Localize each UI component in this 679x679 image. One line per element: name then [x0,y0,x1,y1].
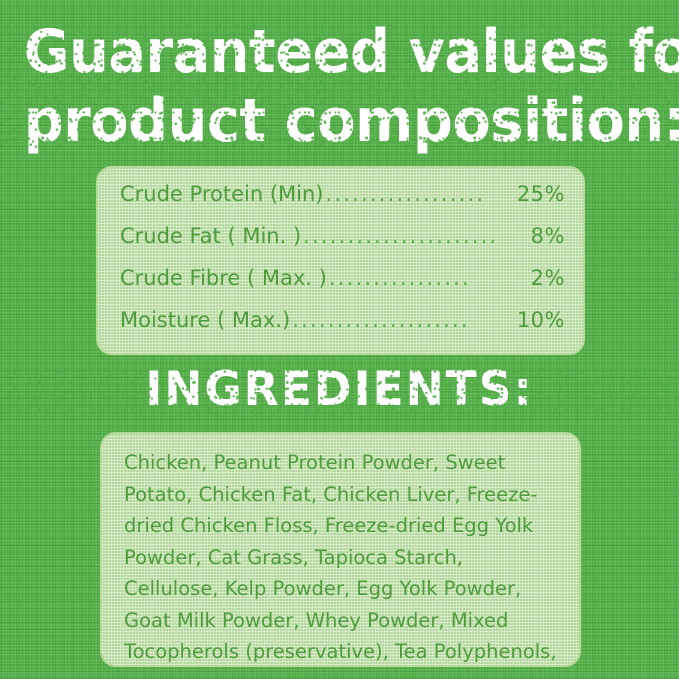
pet-food-label-panel: Guaranteed values for product compositio… [0,0,679,679]
guaranteed-analysis-list: Crude Protein (Min) .................. 2… [120,182,565,350]
nutrient-label: Crude Protein (Min) [120,182,323,206]
table-row: Moisture ( Max.) .................... 10… [120,308,565,350]
nutrient-value: 2% [503,266,565,290]
nutrient-value: 10% [503,308,565,332]
guaranteed-analysis-panel: Crude Protein (Min) .................. 2… [96,166,585,355]
leader-dots: ................ [329,266,501,290]
nutrient-label: Crude Fat ( Min. ) [120,224,301,248]
leader-dots: .................. [325,182,501,206]
page-title-line-2: product composition: [24,91,655,151]
ingredients-heading: INGREDIENTS: [0,366,679,413]
table-row: Crude Protein (Min) .................. 2… [120,182,565,224]
nutrient-label: Crude Fibre ( Max. ) [120,266,327,290]
ingredients-heading-text: INGREDIENTS: [10,366,669,413]
nutrient-value: 8% [503,224,565,248]
nutrient-label: Moisture ( Max.) [120,308,290,332]
ingredients-text: Chicken, Peanut Protein Powder, Sweet Po… [124,447,563,667]
nutrient-value: 25% [503,182,565,206]
leader-dots: .................... [292,308,501,332]
page-title-line-1: Guaranteed values for [24,22,655,82]
table-row: Crude Fibre ( Max. ) ................ 2% [120,266,565,308]
ingredients-panel: Chicken, Peanut Protein Powder, Sweet Po… [100,432,581,667]
leader-dots: ...................... [303,224,501,248]
table-row: Crude Fat ( Min. ) .....................… [120,224,565,266]
page-title: Guaranteed values for product compositio… [0,22,679,151]
